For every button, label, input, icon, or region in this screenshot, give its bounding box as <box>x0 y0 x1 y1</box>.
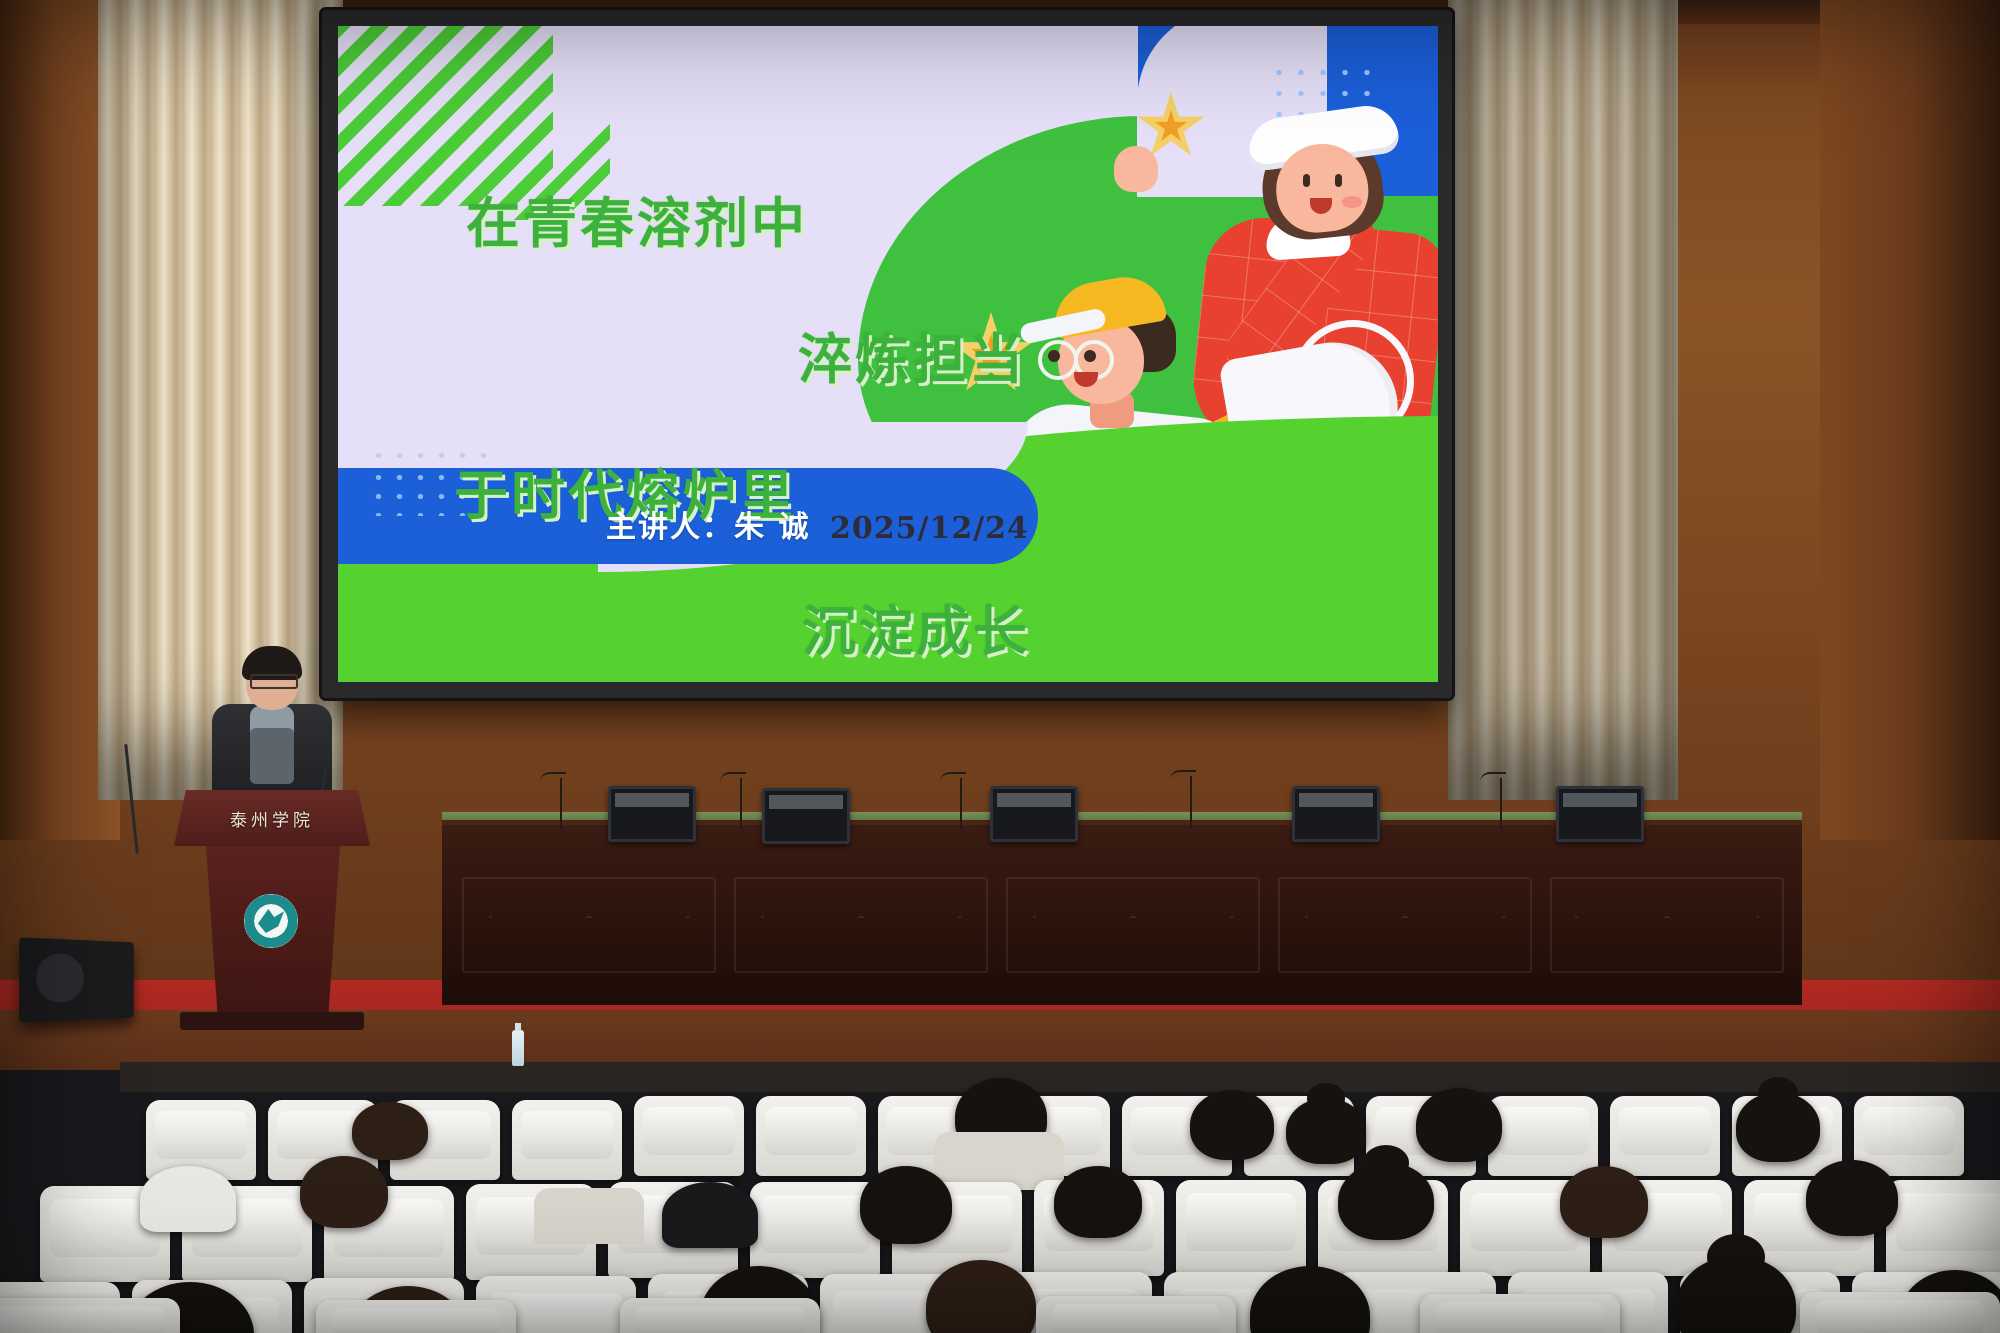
audience-head-cap <box>662 1182 758 1248</box>
seat <box>1610 1096 1720 1176</box>
delegate-monitor <box>1556 786 1644 842</box>
table-microphone <box>740 778 742 830</box>
seat <box>0 1298 180 1333</box>
university-seal-icon <box>244 894 298 948</box>
head-table <box>442 820 1802 1005</box>
seat <box>634 1096 744 1176</box>
audience-head <box>860 1166 952 1244</box>
seat <box>1488 1096 1598 1176</box>
delegate-monitor <box>762 788 850 844</box>
seat <box>1176 1180 1306 1276</box>
presentation-slide: 在青春溶剂中 淬炼担当 于时代熔炉里 沉淀成长 主讲人：朱 诚 2025/12/… <box>338 26 1438 682</box>
delegate-monitor <box>1292 786 1380 842</box>
audience-head <box>1560 1166 1648 1238</box>
audience-head <box>1190 1090 1274 1160</box>
seat <box>316 1300 516 1333</box>
audience-head <box>1416 1088 1502 1162</box>
audience-head <box>1286 1098 1366 1164</box>
slide-title: 在青春溶剂中 淬炼担当 于时代熔炉里 沉淀成长 <box>428 122 1068 682</box>
glasses-icon <box>250 674 298 689</box>
floor-loudspeaker <box>19 937 134 1022</box>
auditorium-scene: 在青春溶剂中 淬炼担当 于时代熔炉里 沉淀成长 主讲人：朱 诚 2025/12/… <box>0 0 2000 1333</box>
seat <box>620 1298 820 1333</box>
audience-coat <box>534 1188 644 1244</box>
wall-panel-right <box>1820 0 2000 840</box>
seat <box>1036 1296 1236 1333</box>
slide-title-line-1: 在青春溶剂中 <box>428 190 1068 258</box>
projection-screen-frame: 在青春溶剂中 淬炼担当 于时代熔炉里 沉淀成长 主讲人：朱 诚 2025/12/… <box>322 10 1452 698</box>
audience-head <box>1736 1092 1820 1162</box>
seat <box>1800 1292 2000 1333</box>
audience-head <box>300 1156 388 1228</box>
audience-head <box>1338 1162 1434 1240</box>
table-microphone <box>960 778 962 830</box>
lectern: 泰州学院 <box>196 790 346 1010</box>
table-microphone <box>1190 776 1192 828</box>
table-microphone <box>1500 778 1502 830</box>
seat <box>1420 1294 1620 1333</box>
audience-head <box>352 1102 428 1160</box>
audience-head <box>1806 1160 1898 1236</box>
lectern-label: 泰州学院 <box>174 806 370 831</box>
speaker-person <box>206 650 336 810</box>
table-microphone <box>560 778 562 830</box>
water-bottle <box>512 1030 524 1066</box>
seat <box>756 1096 866 1176</box>
seat <box>512 1100 622 1180</box>
audience-head-cap <box>140 1166 236 1232</box>
desk-rail <box>120 1062 2000 1092</box>
slide-presenter-label: 主讲人：朱 诚 <box>606 502 810 546</box>
delegate-monitor <box>990 786 1078 842</box>
slide-title-line-2: 淬炼担当 <box>428 326 1068 394</box>
stage-curtain-right <box>1448 0 1678 800</box>
slide-date: 2025/12/24 <box>830 511 1029 546</box>
delegate-monitor <box>608 786 696 842</box>
slide-title-line-4: 沉淀成长 <box>428 598 1068 666</box>
seat <box>1886 1180 2000 1276</box>
audience-head <box>1054 1166 1142 1238</box>
audience-area <box>0 1070 2000 1333</box>
